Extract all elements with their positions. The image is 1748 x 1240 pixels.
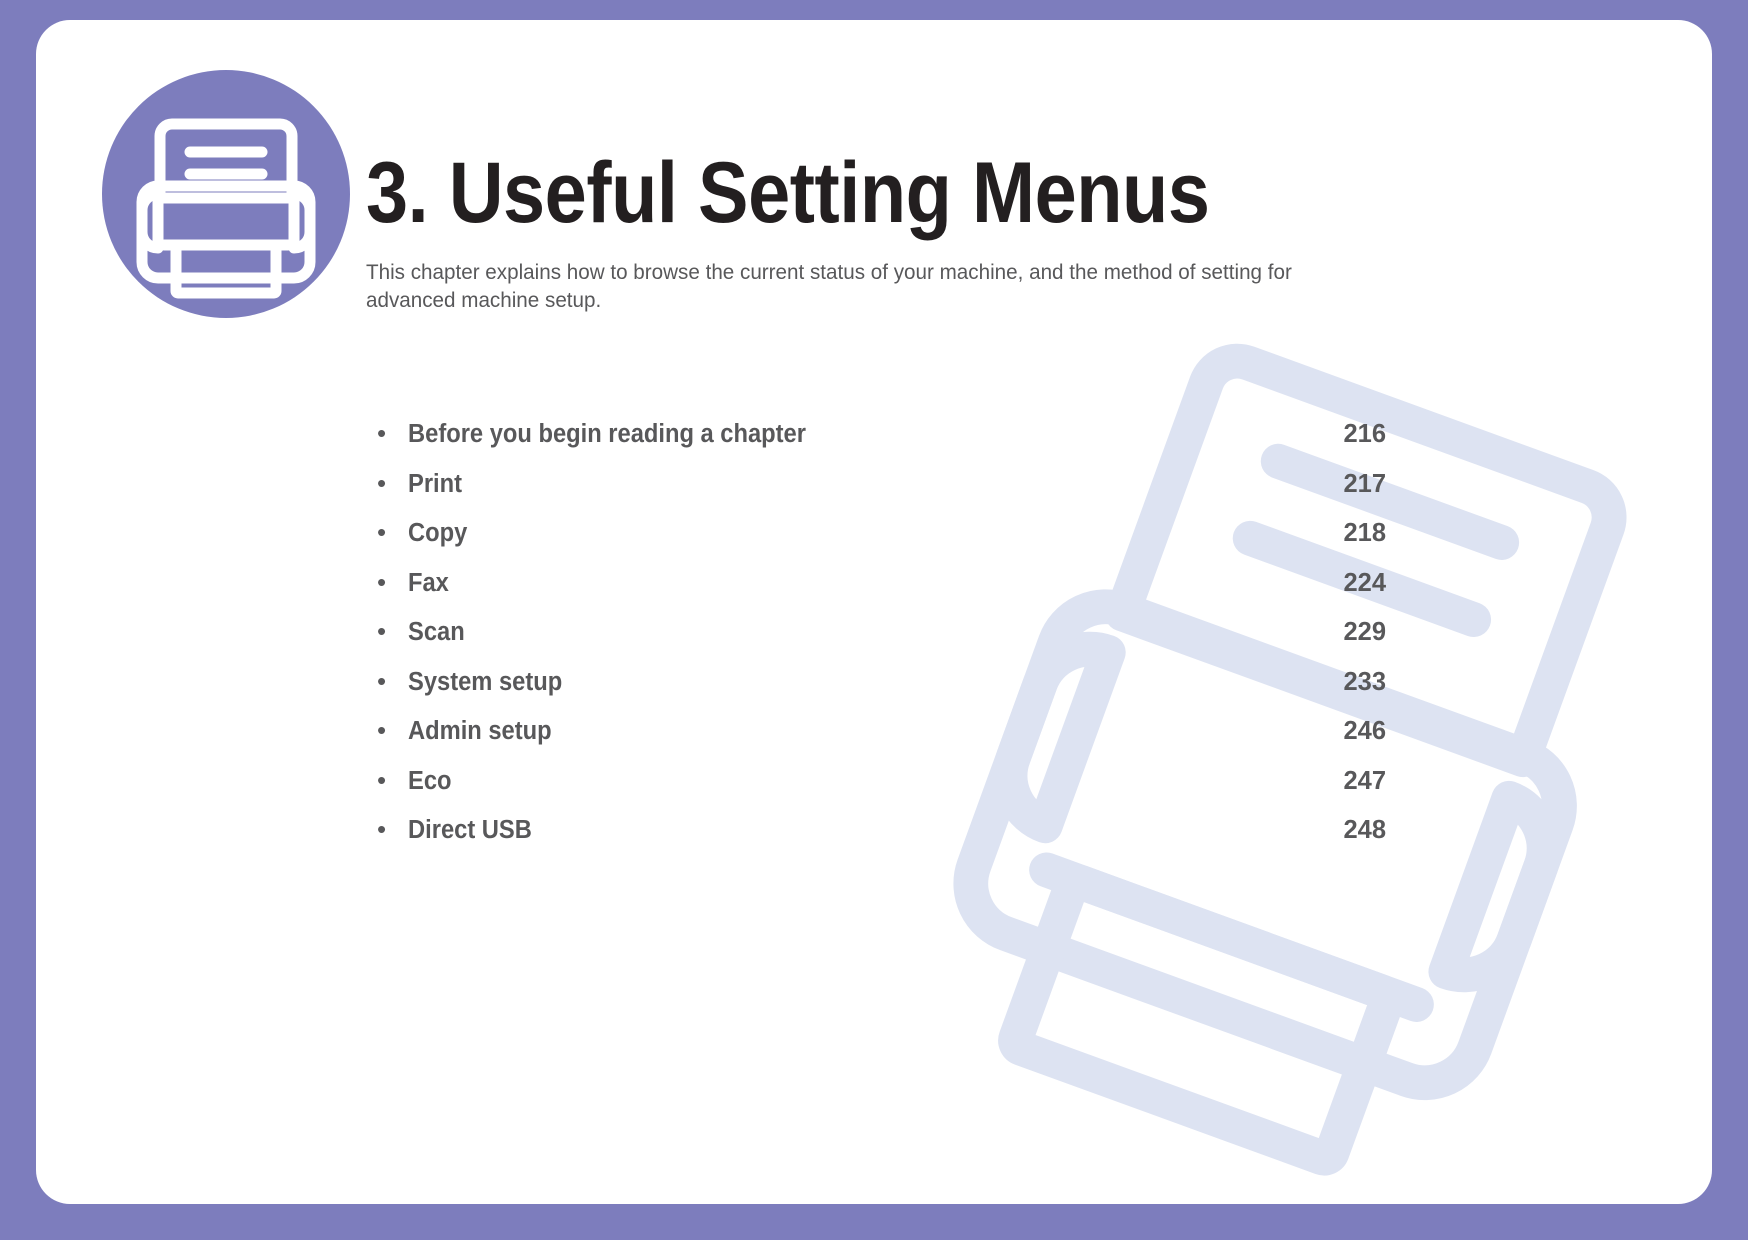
list-item[interactable]: • Copy 218 (366, 519, 1386, 569)
list-item-label: Print (408, 470, 1206, 499)
bullet-icon: • (366, 470, 408, 496)
page-canvas: 3. Useful Setting Menus This chapter exp… (36, 20, 1712, 1204)
list-item[interactable]: • Before you begin reading a chapter 216 (366, 420, 1386, 470)
list-item-page: 216 (1266, 420, 1386, 449)
list-item-label: Copy (408, 519, 1206, 548)
list-item-page: 233 (1266, 668, 1386, 697)
bullet-icon: • (366, 717, 408, 743)
page-title: 3. Useful Setting Menus (366, 150, 1378, 236)
chapter-description: This chapter explains how to browse the … (366, 258, 1312, 315)
list-item-page: 229 (1266, 618, 1386, 647)
bullet-icon: • (366, 816, 408, 842)
list-item-page: 218 (1266, 519, 1386, 548)
bullet-icon: • (366, 569, 408, 595)
printer-icon (102, 70, 350, 318)
list-item-label: Fax (408, 569, 1206, 598)
list-item[interactable]: • Admin setup 246 (366, 717, 1386, 767)
chapter-contents-list: • Before you begin reading a chapter 216… (366, 420, 1386, 866)
page-frame: 3. Useful Setting Menus This chapter exp… (0, 0, 1748, 1240)
list-item-page: 217 (1266, 470, 1386, 499)
list-item-label: Admin setup (408, 717, 1206, 746)
bullet-icon: • (366, 668, 408, 694)
list-item-label: Eco (408, 767, 1206, 796)
list-item[interactable]: • Direct USB 248 (366, 816, 1386, 866)
list-item-page: 224 (1266, 569, 1386, 598)
list-item-label: System setup (408, 668, 1206, 697)
list-item-page: 246 (1266, 717, 1386, 746)
bullet-icon: • (366, 767, 408, 793)
list-item-label: Before you begin reading a chapter (408, 420, 1206, 449)
list-item-page: 248 (1266, 816, 1386, 845)
list-item-label: Direct USB (408, 816, 1206, 845)
list-item[interactable]: • System setup 233 (366, 668, 1386, 718)
bullet-icon: • (366, 519, 408, 545)
list-item[interactable]: • Fax 224 (366, 569, 1386, 619)
list-item-page: 247 (1266, 767, 1386, 796)
list-item-label: Scan (408, 618, 1206, 647)
bullet-icon: • (366, 618, 408, 644)
list-item[interactable]: • Print 217 (366, 470, 1386, 520)
title-block: 3. Useful Setting Menus This chapter exp… (366, 150, 1516, 315)
bullet-icon: • (366, 420, 408, 446)
list-item[interactable]: • Scan 229 (366, 618, 1386, 668)
list-item[interactable]: • Eco 247 (366, 767, 1386, 817)
